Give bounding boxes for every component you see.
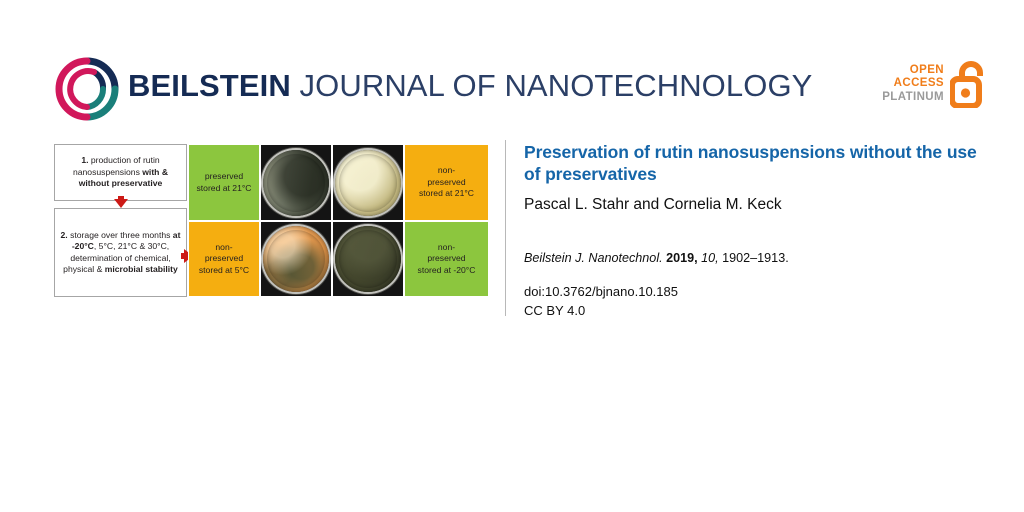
cell-nonpreserved-21c: non- preserved stored at 21°C [404,144,489,221]
petri-dish-nonpreserved-minus20c [332,221,404,297]
wordmark-bold: BEILSTEIN [128,68,291,103]
petri-dish-nonpreserved-21c [332,144,404,221]
beilstein-spiral-logo[interactable] [54,56,120,122]
petri-dish-photo [333,145,403,220]
article-citation: Beilstein J. Nanotechnol. 2019, 10, 1902… [524,250,986,268]
citation-journal: Beilstein J. Nanotechnol. [524,251,663,265]
flow-step-2-text: 2. storage over three months at -20°C, 5… [59,230,182,276]
petri-dish-nonpreserved-5c [260,221,332,297]
graphical-abstract: 1. production of rutin nanosuspensions w… [54,144,489,297]
article-info: Preservation of rutin nanosuspensions wi… [524,142,986,321]
open-access-text: OPEN ACCESS PLATINUM [882,64,944,105]
flow-step-2: 2. storage over three months at -20°C, 5… [54,208,187,297]
abstract-grid: preserved stored at 21°C non- preserved … [188,144,489,297]
petri-dish-photo [261,222,331,296]
masthead: BEILSTEIN JOURNAL OF NANOTECHNOLOGY OPEN… [0,0,1024,132]
cell-preserved-21c-label: preserved stored at 21°C [193,171,254,194]
citation-volume: 10, [701,251,719,265]
citation-pages: 1902–1913. [722,251,789,265]
article-title[interactable]: Preservation of rutin nanosuspensions wi… [524,142,986,185]
article-license[interactable]: CC BY 4.0 [524,302,986,321]
article-doi[interactable]: doi:10.3762/bjnano.10.185 [524,283,986,302]
flow-step-1-text: 1. production of rutin nanosuspensions w… [59,155,182,189]
open-access-line-open: OPEN [882,64,944,78]
cell-preserved-21c: preserved stored at 21°C [188,144,260,221]
flow-step-1: 1. production of rutin nanosuspensions w… [54,144,187,201]
agar-plate [335,150,401,216]
journal-wordmark: BEILSTEIN JOURNAL OF NANOTECHNOLOGY [128,70,812,101]
petri-dish-preserved-21c [260,144,332,221]
open-access-line-access: ACCESS [882,77,944,91]
petri-dish-photo [333,222,403,296]
agar-plate [335,226,401,292]
cell-nonpreserved-minus20c: non- preserved stored at -20°C [404,221,489,297]
agar-plate [263,150,329,216]
citation-year: 2019, [666,251,698,265]
flow-column: 1. production of rutin nanosuspensions w… [54,144,187,297]
wordmark-light: JOURNAL OF NANOTECHNOLOGY [291,68,813,103]
cell-nonpreserved-minus20c-label: non- preserved stored at -20°C [415,242,479,277]
open-access-badge: OPEN ACCESS PLATINUM [882,60,990,108]
open-access-line-platinum: PLATINUM [882,91,944,105]
agar-plate [263,226,329,292]
article-authors: Pascal L. Stahr and Cornelia M. Keck [524,195,986,215]
cell-nonpreserved-5c-label: non- preserved stored at 5°C [196,242,252,277]
cell-nonpreserved-5c: non- preserved stored at 5°C [188,221,260,297]
petri-dish-photo [261,145,331,220]
cell-nonpreserved-21c-label: non- preserved stored at 21°C [416,165,477,200]
open-padlock-icon [950,60,990,108]
arrow-down-icon [114,199,128,208]
article-divider [505,140,506,316]
